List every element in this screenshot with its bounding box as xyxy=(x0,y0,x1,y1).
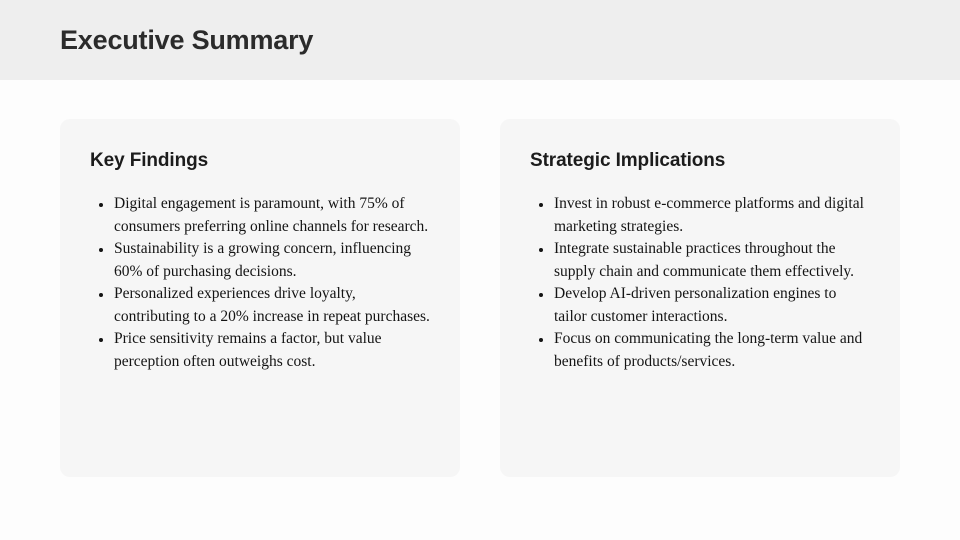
slide: Executive Summary Key Findings Digital e… xyxy=(0,0,960,540)
card-key-findings: Key Findings Digital engagement is param… xyxy=(60,119,460,477)
card-heading: Strategic Implications xyxy=(530,149,870,173)
list-item: Integrate sustainable practices througho… xyxy=(554,238,870,283)
list-item: Digital engagement is paramount, with 75… xyxy=(114,193,430,238)
list-item: Price sensitivity remains a factor, but … xyxy=(114,328,430,373)
card-strategic-implications: Strategic Implications Invest in robust … xyxy=(500,119,900,477)
bullet-list: Invest in robust e-commerce platforms an… xyxy=(530,193,870,373)
list-item: Sustainability is a growing concern, inf… xyxy=(114,238,430,283)
list-item: Develop AI-driven personalization engine… xyxy=(554,283,870,328)
cards-container: Key Findings Digital engagement is param… xyxy=(60,119,900,477)
page-title: Executive Summary xyxy=(60,24,313,56)
list-item: Invest in robust e-commerce platforms an… xyxy=(554,193,870,238)
list-item: Personalized experiences drive loyalty, … xyxy=(114,283,430,328)
bullet-list: Digital engagement is paramount, with 75… xyxy=(90,193,430,373)
list-item: Focus on communicating the long-term val… xyxy=(554,328,870,373)
card-heading: Key Findings xyxy=(90,149,430,173)
